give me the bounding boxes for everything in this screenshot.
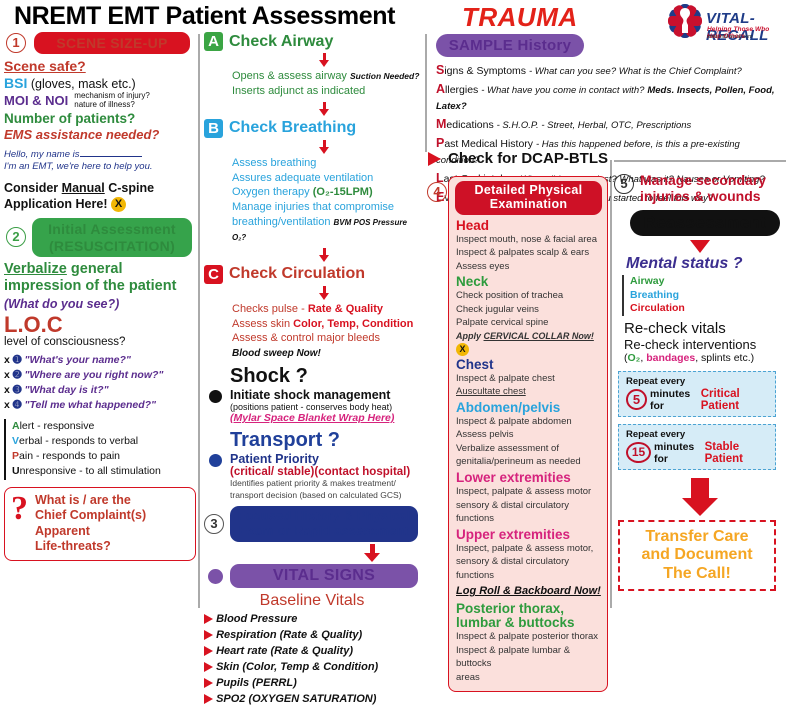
exam-line: Check jugular veins <box>456 303 601 316</box>
question-mark-icon: ? <box>11 494 28 524</box>
divider-1 <box>198 34 200 608</box>
suction-note: Suction Needed? <box>350 71 419 81</box>
scene-safe-label: Scene safe? <box>4 58 86 74</box>
exam-line: Auscultate chest <box>456 385 601 398</box>
breathing-heading: B Check Breathing <box>204 119 420 138</box>
list-item: x ➋ "Where are you right now?" <box>4 368 196 383</box>
moi-noi-label: MOI & NOI <box>4 93 68 108</box>
exam-heading-upper-ext: Upper extremities <box>456 528 601 542</box>
chief-complaint-line-4: Life-threats? <box>35 539 111 553</box>
breathing-steps: Assess breathing Assures adequate ventil… <box>204 156 420 245</box>
big-down-arrow-icon <box>682 478 718 516</box>
list-item: Allergies - What have you come in contac… <box>436 80 784 115</box>
vital-signs-badge: VITAL SIGNS <box>230 564 418 588</box>
letter-b-badge: B <box>204 119 223 138</box>
list-item: Skin (Color, Temp & Condition) <box>204 660 420 676</box>
circulation-line-2: Assess skin <box>232 318 290 330</box>
step-number-4: 4 <box>427 182 447 202</box>
column-detailed-exam: 4 Detailed Physical Examination Head Ins… <box>428 176 608 692</box>
column-scene-sizeup: 1 SCENE SIZE-UP Scene safe? BSI (gloves,… <box>4 32 196 561</box>
shock-heading: Shock ? <box>204 365 420 388</box>
repeat-patient-type: Stable Patient <box>705 441 768 465</box>
hello-line-2: I'm an EMT, we're here to help you. <box>4 161 153 172</box>
exam-line: Inspect & palpate lumbar & buttocks <box>456 644 601 671</box>
circulation-steps: Checks pulse - Rate & Quality Assess ski… <box>204 302 420 361</box>
bullet-dot-icon <box>208 569 223 584</box>
triangle-bullet-icon <box>204 614 213 624</box>
moi-note-2: nature of illness? <box>74 100 134 109</box>
repeat-minutes-label: minutes for <box>650 388 698 412</box>
transport-line-4: transport decision (based on calculated … <box>230 490 402 500</box>
dcap-btls-label: Check for DCAP-BTLS <box>448 150 608 167</box>
exam-line: Inspect & palpate posterior thorax <box>456 630 601 643</box>
recheck-bandages: bandages <box>646 352 695 364</box>
focused-history-badge: Focused History & Physical Exam or Rapid… <box>230 506 418 542</box>
transfer-line-1: Transfer Care <box>645 528 748 545</box>
baseline-vitals-heading: Baseline Vitals <box>204 592 420 610</box>
recheck-o2: O₂ <box>628 352 641 364</box>
sample-history-badge: SAMPLE History <box>436 34 584 57</box>
exam-line: Inspect, palpate & assess motor <box>456 485 601 498</box>
x-badge-icon: X <box>111 197 126 212</box>
transport-line-3: Identifies patient priority & makes trea… <box>230 478 396 488</box>
collar-note-visible: CERVICAL COLLAR Now! <box>484 331 594 341</box>
list-item: Alert - responsive <box>4 419 196 434</box>
recheck-vitals-label: Re-check vitals <box>624 320 786 337</box>
breathing-line-1: Assess breathing <box>232 157 316 169</box>
pulse-quality: Rate & Quality <box>308 303 383 315</box>
repeat-label: Repeat every <box>626 376 768 387</box>
recheck-interventions-label: Re-check interventions <box>624 337 786 352</box>
exam-line: Assess pelvis <box>456 428 601 441</box>
step-number-5: 5 <box>614 174 634 194</box>
letter-a-badge: A <box>204 32 223 51</box>
verbalize-keyword: Verbalize <box>4 261 67 277</box>
exam-heading-chest: Chest <box>456 358 601 372</box>
shock-line-1: Initiate shock management <box>230 388 420 402</box>
repeat-interval-5: 5 <box>626 389 647 410</box>
exam-line: Palpate cervical spine <box>456 316 601 329</box>
step-number-3: 3 <box>204 514 224 534</box>
chief-complaint-line-3: Apparent <box>35 524 90 538</box>
list-item: Signs & Symptoms - What can you see? Wha… <box>436 61 784 80</box>
list-item: Pupils (PERRL) <box>204 676 420 692</box>
list-item: Pain - responds to pain <box>4 449 196 464</box>
repeat-minutes-label: minutes for <box>654 441 702 465</box>
repeat-patient-type: Critical Patient <box>701 388 768 412</box>
exam-heading-posterior: Posterior thorax, lumbar & buttocks <box>456 602 601 630</box>
repeat-interval-15: 15 <box>626 442 651 463</box>
exam-line: Inspect & palpate abdomen <box>456 415 601 428</box>
repeat-stable-box: Repeat every 15 minutes for Stable Patie… <box>618 424 776 470</box>
cspine-manual: Manual <box>62 181 105 195</box>
triangle-bullet-icon <box>204 694 213 704</box>
focused-history-line-1: Focused History & Physical <box>238 509 410 523</box>
down-arrow-icon <box>690 240 710 253</box>
exam-line: genitalia/perineum as needed <box>456 455 601 468</box>
x-badge-icon: X <box>456 343 469 356</box>
detailed-exam-line-1: Detailed Physical <box>475 183 583 197</box>
airway-steps: Opens & assess airway Suction Needed? In… <box>204 69 420 99</box>
recheck-rest: , splints etc.) <box>695 352 754 364</box>
list-item: Blood Pressure <box>204 612 420 628</box>
divider-2 <box>425 34 427 152</box>
repeat-critical-box: Repeat every 5 minutes for Critical Pati… <box>618 371 776 417</box>
chief-complaint-line-2: Chief Complaint(s) <box>35 508 146 522</box>
moi-note-1: mechanism of injury? <box>74 91 150 100</box>
list-item: x ➍ "Tell me what happened?" <box>4 398 196 413</box>
list-item: Circulation <box>630 302 786 316</box>
exam-line: sensory & distal circulatory functions <box>456 555 601 582</box>
cspine-note: Consider Manual C-spine Application Here… <box>4 181 196 212</box>
initial-assessment-badge: Initial Assessment (RESUSCITATION) <box>32 218 192 256</box>
breathing-line-2: Assures adequate ventilation <box>232 172 373 184</box>
what-do-you-see: (What do you see?) <box>4 297 196 311</box>
exam-heading-abdomen: Abdomen/pelvis <box>456 401 601 415</box>
oxygen-dose: (O₂-15LPM) <box>313 186 373 198</box>
list-item: Airway <box>630 275 786 289</box>
airway-line-2: Inserts adjunct as indicated <box>232 85 365 97</box>
dcap-btls-row: Check for DCAP-BTLS <box>428 150 608 167</box>
verbalize-impression: Verbalize general impression of the pati… <box>4 261 196 294</box>
exam-heading-lower-ext: Lower extremities <box>456 471 601 485</box>
exam-line: Verbalize assessment of <box>456 442 601 455</box>
cspine-label: C-spine <box>108 181 154 195</box>
bsi-label: BSI <box>4 75 27 91</box>
list-item: Medications - S.H.O.P. - Street, Herbal,… <box>436 115 784 134</box>
mylar-note: (Mylar Space Blanket Wrap Here) <box>230 412 420 424</box>
collar-apply: Apply <box>456 331 484 341</box>
mental-status-heading: Mental status ? <box>626 255 786 273</box>
log-roll-note: Log Roll & Backboard Now! <box>456 584 601 600</box>
list-item: Breathing <box>630 289 786 303</box>
letter-c-badge: C <box>204 265 223 284</box>
bullet-dot-icon <box>209 454 222 467</box>
hello-line-1: Hello, my name is <box>4 149 80 160</box>
infographic-page: NREMT EMT Patient Assessment TRAUMA VITA… <box>0 0 787 608</box>
exam-heading-neck: Neck <box>456 275 601 289</box>
detailed-exam-badge: Detailed Physical Examination <box>455 181 602 215</box>
list-item: x ➌ "What day is it?" <box>4 383 196 398</box>
manage-secondary-line-2: injuries & wounds <box>640 188 761 204</box>
transfer-care-box: Transfer Care and Document The Call! <box>618 520 776 591</box>
triangle-bullet-icon <box>204 678 213 688</box>
triangle-bullet-icon <box>428 152 441 166</box>
abc-list: Airway Breathing Circulation <box>622 275 786 316</box>
avpu-scale: Alert - responsive Verbal - responds to … <box>4 419 196 480</box>
detailed-exam-line-2: Examination <box>490 197 568 211</box>
check-breathing-label: Check Breathing <box>229 119 356 137</box>
circulation-line-3: Assess & control major bleeds <box>232 332 380 344</box>
triangle-bullet-icon <box>204 662 213 672</box>
initial-assessment-line1: Initial Assessment <box>48 221 176 237</box>
transfer-line-3: The Call! <box>663 565 731 582</box>
initial-assessment-line2: (RESUSCITATION) <box>49 238 175 254</box>
repeat-label: Repeat every <box>626 429 768 440</box>
trauma-heading: TRAUMA <box>462 2 578 33</box>
exam-heading-head: Head <box>456 219 601 233</box>
shock-line-2: (positions patient - conserves body heat… <box>230 402 420 412</box>
cervical-collar-note-row: Apply Apply CERVICAL COLLAR Now!CERVICAL… <box>456 330 601 356</box>
exam-line: Check position of trachea <box>456 289 601 302</box>
skin-quality: Color, Temp, Condition <box>293 318 413 330</box>
exam-line: Inspect mouth, nose & facial area <box>456 233 601 246</box>
check-airway-label: Check Airway <box>229 33 333 51</box>
exam-line: areas <box>456 671 601 684</box>
circulation-heading: C Check Circulation <box>204 265 420 284</box>
recheck-note: (O₂, bandages, splints etc.) <box>624 352 786 364</box>
focused-history-line-2: Exam or Rapid assessment <box>239 524 409 538</box>
transport-line-1: Patient Priority <box>230 452 420 466</box>
introduction-script: Hello, my name is I'm an EMT, we're here… <box>4 149 196 175</box>
exam-line: sensory & distal circulatory functions <box>456 499 601 526</box>
transfer-line-2: and Document <box>641 546 752 563</box>
column-reassessment: 5 Manage secondary injuries & wounds Rea… <box>614 172 786 591</box>
triangle-bullet-icon <box>204 646 213 656</box>
orientation-questions: x ➊ "What's your name?" x ➋ "Where are y… <box>4 353 196 414</box>
exam-line: Inspect & palpate chest <box>456 372 601 385</box>
bullet-dot-icon <box>209 390 222 403</box>
cspine-apply: Application Here! <box>4 197 108 211</box>
airway-line-1: Opens & assess airway <box>232 70 347 82</box>
reassessment-badge: Reassessment <box>630 210 780 236</box>
breathing-line-5: breathing/ventilation <box>232 216 330 228</box>
list-item: SPO2 (OXYGEN SATURATION) <box>204 692 420 708</box>
circulation-line-1: Checks pulse - <box>232 303 305 315</box>
check-circulation-label: Check Circulation <box>229 265 365 283</box>
vitals-list: Blood Pressure Respiration (Rate & Quali… <box>204 612 420 708</box>
posterior-line-1: Posterior thorax, <box>456 601 564 616</box>
posterior-line-2: lumbar & buttocks <box>456 615 575 630</box>
transport-line-2: (critical/ stable)(contact hospital) <box>230 466 420 478</box>
list-item: Respiration (Rate & Quality) <box>204 628 420 644</box>
number-of-patients-label: Number of patients? <box>4 111 135 126</box>
exam-line: Inspect, palpate & assess motor, <box>456 542 601 555</box>
list-item: Verbal - responds to verbal <box>4 434 196 449</box>
list-item: Unresponsive - to all stimulation <box>4 464 196 479</box>
transport-heading: Transport ? <box>204 429 420 452</box>
list-item: x ➊ "What's your name?" <box>4 353 196 368</box>
scene-sizeup-badge: SCENE SIZE-UP <box>34 32 190 54</box>
exam-line: Inspect & palpates scalp & ears <box>456 246 601 259</box>
step-number-1: 1 <box>6 33 26 53</box>
manage-secondary-line-1: Manage secondary <box>640 172 766 188</box>
bsi-note: (gloves, mask etc.) <box>31 77 136 91</box>
exam-line: Assess eyes <box>456 260 601 273</box>
triangle-bullet-icon <box>204 630 213 640</box>
ems-assistance-label: EMS assistance needed? <box>4 127 159 142</box>
airway-heading: A Check Airway <box>204 32 420 51</box>
breathing-line-4: Manage injuries that compromise <box>232 201 394 213</box>
page-title: NREMT EMT Patient Assessment <box>14 2 395 31</box>
loc-heading: L.O.C <box>4 314 196 336</box>
divider-3 <box>610 160 612 608</box>
cspine-consider: Consider <box>4 181 58 195</box>
list-item: Heart rate (Rate & Quality) <box>204 644 420 660</box>
breathing-line-3: Oxygen therapy <box>232 186 310 198</box>
chief-complaint-box: ? What is / are the Chief Complaint(s) A… <box>4 487 196 562</box>
column-abc: A Check Airway Opens & assess airway Suc… <box>204 32 420 708</box>
loc-subtitle: level of consciousness? <box>4 336 196 348</box>
blood-sweep-note: Blood sweep Now! <box>232 348 321 359</box>
chief-complaint-line-1: What is / are the <box>35 493 131 507</box>
step-number-2: 2 <box>6 227 26 247</box>
